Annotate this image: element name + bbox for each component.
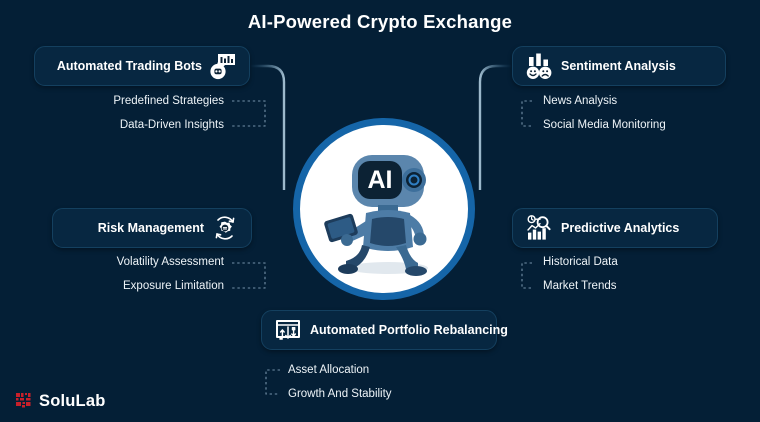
sub-item-growth-and-stability[interactable]: Growth And Stability [288,388,518,400]
sub-item-exposure-limitation[interactable]: Exposure Limitation [52,280,224,292]
branch-label: Predictive Analytics [561,221,679,235]
branch-label: Automated Portfolio Rebalancing [310,323,508,337]
sentiment-faces-icon [524,51,554,81]
branch-label: Sentiment Analysis [561,59,676,73]
center-hub: AI [293,118,475,300]
sub-item-label: News Analysis [543,95,617,107]
branch-label: Automated Trading Bots [57,59,202,73]
branch-card-risk-management[interactable]: Risk Management [52,208,252,248]
sub-item-label: Asset Allocation [288,364,369,376]
hub-label: AI [368,166,393,194]
risk-shield-cycle-icon [210,213,240,243]
sub-item-label: Volatility Assessment [117,256,224,268]
sub-item-asset-allocation[interactable]: Asset Allocation [288,364,518,376]
sub-item-label: Historical Data [543,256,618,268]
sub-item-data-driven-insights[interactable]: Data-Driven Insights [34,119,224,131]
sub-item-label: Growth And Stability [288,388,392,400]
sub-item-social-media-monitoring[interactable]: Social Media Monitoring [543,119,743,131]
sub-item-historical-data[interactable]: Historical Data [543,256,743,268]
brand-name: SoluLab [39,392,105,411]
portfolio-rebalance-icon [273,315,303,345]
sub-item-news-analysis[interactable]: News Analysis [543,95,743,107]
sub-item-market-trends[interactable]: Market Trends [543,280,743,292]
sub-item-label: Market Trends [543,280,617,292]
ai-robot-illustration: AI [300,125,470,295]
brand-logo[interactable]: SoluLab [16,392,105,411]
sub-item-volatility-assessment[interactable]: Volatility Assessment [52,256,224,268]
sub-item-label: Data-Driven Insights [120,119,224,131]
sub-item-label: Social Media Monitoring [543,119,666,131]
branch-card-automated-trading-bots[interactable]: Automated Trading Bots [34,46,250,86]
sub-item-label: Exposure Limitation [123,280,224,292]
branch-card-predictive-analytics[interactable]: Predictive Analytics [512,208,718,248]
solulab-pixel-mark [16,393,33,410]
sub-item-label: Predefined Strategies [113,95,224,107]
branch-label: Risk Management [98,221,204,235]
trading-bot-icon [208,51,238,81]
sub-item-predefined-strategies[interactable]: Predefined Strategies [34,95,224,107]
infographic-canvas: AI-Powered Crypto Exchange [0,0,760,422]
predictive-chart-magnifier-icon [524,213,554,243]
branch-card-automated-portfolio-rebalancing[interactable]: Automated Portfolio Rebalancing [261,310,497,350]
branch-card-sentiment-analysis[interactable]: Sentiment Analysis [512,46,726,86]
